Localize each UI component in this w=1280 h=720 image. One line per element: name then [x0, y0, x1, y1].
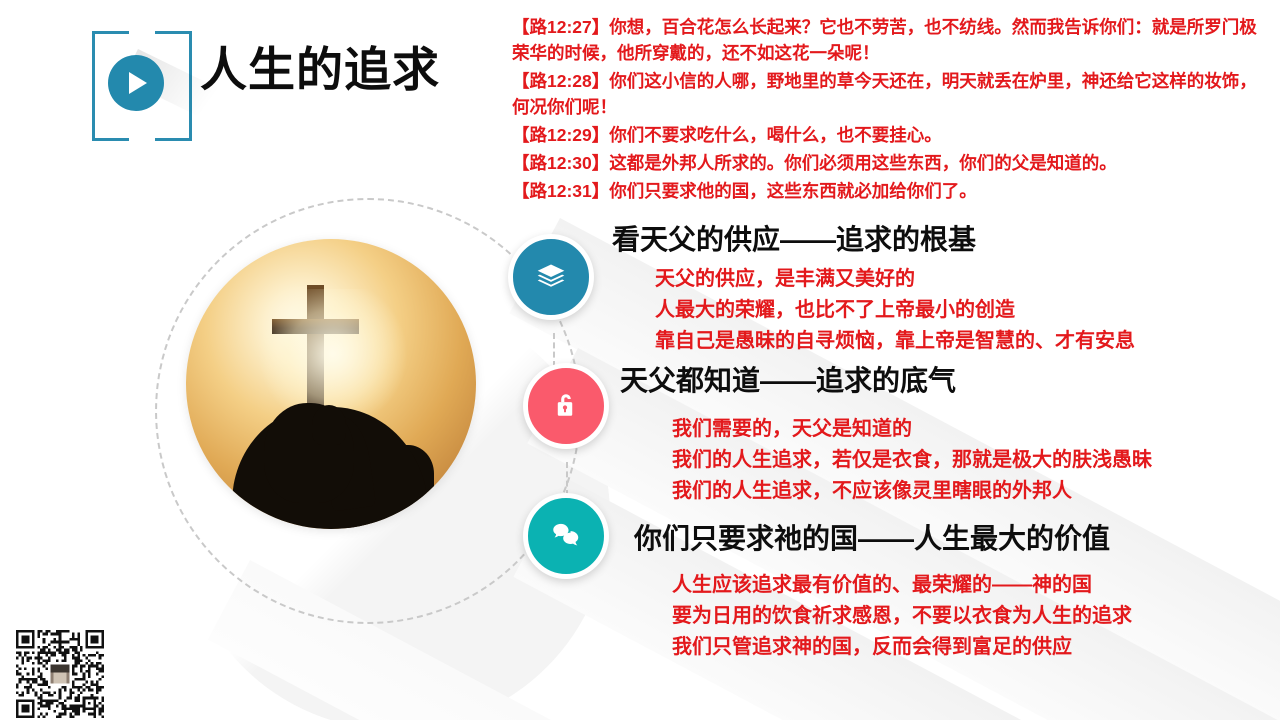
section-heading-3: 你们只要求祂的国——人生最大的价值	[634, 525, 1110, 553]
scripture-verse: 【路12:31】你们只要求他的国，这些东西就必加给你们了。	[512, 178, 1268, 204]
section-line: 要为日用的饮食祈求感恩，不要以衣食为人生的追求	[672, 601, 1132, 632]
scripture-verse: 【路12:28】你们这小信的人哪，野地里的草今天还在，明天就丢在炉里，神还给它这…	[512, 68, 1268, 120]
section-line: 我们的人生追求，若仅是衣食，那就是极大的肤浅愚昧	[672, 445, 1152, 476]
cross-silhouette-photo	[186, 239, 476, 529]
person-hand	[312, 405, 346, 445]
dashed-connector-2	[566, 462, 568, 496]
qr-code-icon[interactable]	[16, 630, 104, 718]
scripture-verse: 【路12:29】你们不要求吃什么，喝什么，也不要挂心。	[512, 122, 1268, 148]
layers-icon	[534, 260, 568, 294]
section-line: 靠自己是愚昧的自寻烦恼，靠上帝是智慧的、才有安息	[655, 326, 1135, 357]
section-heading-1: 看天父的供应——追求的根基	[612, 226, 976, 254]
slide-canvas: 人生的追求 【路12:27】你想，百合花怎么长起来？它也不劳苦，也不纺线。然而我…	[0, 0, 1280, 720]
qr-canvas	[16, 630, 104, 718]
section-line: 我们的人生追求，不应该像灵里瞎眼的外邦人	[672, 476, 1152, 507]
scripture-verse: 【路12:27】你想，百合花怎么长起来？它也不劳苦，也不纺线。然而我告诉你们：就…	[512, 14, 1268, 66]
sun-glow	[258, 289, 408, 419]
section-line: 天父的供应，是丰满又美好的	[655, 264, 1135, 295]
section-heading-2: 天父都知道——追求的底气	[620, 367, 956, 395]
section-line: 人生应该追求最有价值的、最荣耀的——神的国	[672, 570, 1132, 601]
section-line: 我们只管追求神的国，反而会得到富足的供应	[672, 632, 1132, 663]
brand-logo	[92, 31, 192, 135]
dashed-connector-1	[553, 333, 555, 367]
section-line: 人最大的荣耀，也比不了上帝最小的创造	[655, 295, 1135, 326]
section-icon-layers[interactable]	[508, 234, 594, 320]
section-body-1: 天父的供应，是丰满又美好的 人最大的荣耀，也比不了上帝最小的创造 靠自己是愚昧的…	[655, 264, 1135, 357]
play-triangle-icon	[129, 72, 147, 94]
scripture-block: 【路12:27】你想，百合花怎么长起来？它也不劳苦，也不纺线。然而我告诉你们：就…	[512, 14, 1268, 206]
section-body-2: 我们需要的，天父是知道的 我们的人生追求，若仅是衣食，那就是极大的肤浅愚昧 我们…	[672, 414, 1152, 507]
scripture-verse: 【路12:30】这都是外邦人所求的。你们必须用这些东西，你们的父是知道的。	[512, 150, 1268, 176]
page-title: 人生的追求	[200, 46, 440, 93]
play-button-icon	[108, 55, 164, 111]
section-body-3: 人生应该追求最有价值的、最荣耀的——神的国 要为日用的饮食祈求感恩，不要以衣食为…	[672, 570, 1132, 663]
section-icon-unlock[interactable]	[523, 363, 609, 449]
section-icon-speech[interactable]	[523, 493, 609, 579]
speech-bubbles-icon	[549, 519, 583, 553]
section-line: 我们需要的，天父是知道的	[672, 414, 1152, 445]
unlock-padlock-icon	[549, 389, 583, 423]
